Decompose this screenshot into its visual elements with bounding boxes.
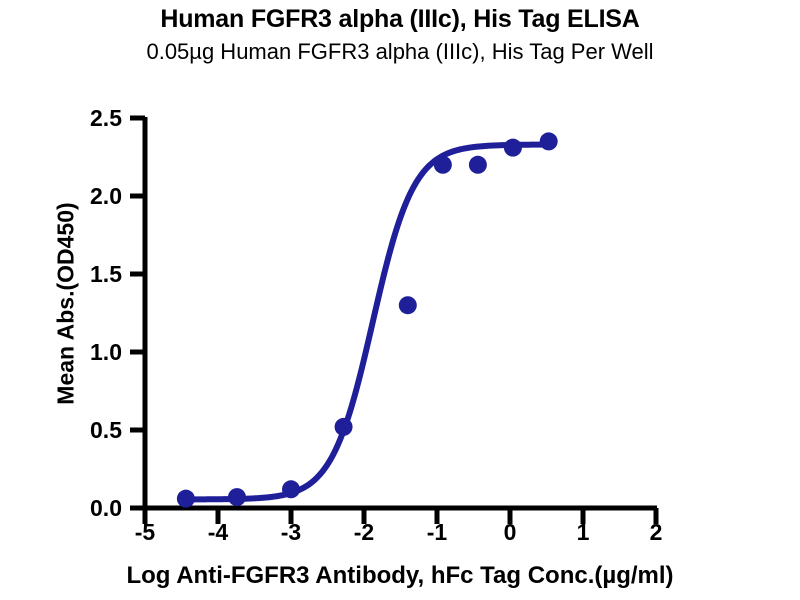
data-point xyxy=(504,139,522,157)
axis-lines xyxy=(143,117,657,509)
plot-area xyxy=(0,0,800,600)
data-point xyxy=(469,156,487,174)
data-point xyxy=(335,418,353,436)
data-point xyxy=(177,490,195,508)
data-point xyxy=(434,156,452,174)
data-point xyxy=(228,488,246,506)
data-point xyxy=(399,296,417,314)
data-point xyxy=(282,480,300,498)
data-points xyxy=(177,132,558,507)
chart-figure: Human FGFR3 alpha (IIIc), His Tag ELISA … xyxy=(0,0,800,600)
fit-curve xyxy=(186,145,549,500)
data-point xyxy=(540,132,558,150)
